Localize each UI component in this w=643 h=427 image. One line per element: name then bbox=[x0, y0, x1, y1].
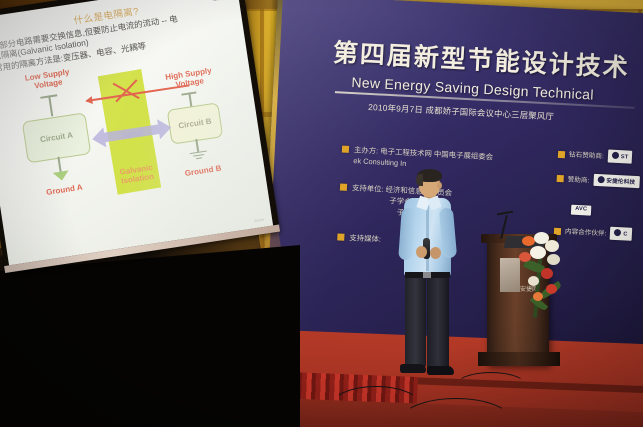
bullet-square-icon bbox=[337, 233, 344, 240]
speaker-hand-left bbox=[416, 246, 427, 258]
sponsor-role: 主办方: bbox=[354, 145, 379, 155]
presentation-slide: ST 意法半导 什么是电隔离? 两部分电路需要交换信息,但要防止电流的流动 --… bbox=[0, 0, 273, 265]
ground-b-label: Ground B bbox=[172, 162, 235, 180]
sponsor-tier-row: 赞助商: 安捷伦科技 bbox=[556, 171, 643, 189]
speaker-ear bbox=[437, 182, 442, 189]
supply-stem-b bbox=[188, 92, 192, 107]
low-supply-label: Low Supply Voltage bbox=[12, 66, 84, 94]
flower-petal-white bbox=[547, 254, 560, 265]
speaker-leg-right bbox=[427, 276, 449, 369]
sponsor-logo: AVC bbox=[571, 205, 591, 216]
slide-footer: www bbox=[254, 217, 265, 223]
flower-petal-orange bbox=[533, 292, 543, 301]
sponsor-role: 支持单位: bbox=[352, 183, 384, 194]
sponsor-tier-label: 内容合作伙伴: bbox=[565, 226, 607, 238]
projection-screen-assembly: ST 意法半导 什么是电隔离? 两部分电路需要交换信息,但要防止电流的流动 --… bbox=[0, 0, 280, 273]
speaker-hair-side bbox=[416, 174, 423, 186]
isolation-diagram: Low Supply Voltage High Supply Voltage C… bbox=[0, 41, 258, 227]
left-dark-area bbox=[0, 245, 300, 427]
speaker-hand-right bbox=[430, 247, 441, 259]
photo-scene: 第四届新型节能设计技术 New Energy Saving Design Tec… bbox=[0, 0, 643, 427]
sponsor-tier-row: 内容合作伙伴: C bbox=[554, 224, 643, 242]
flower-petal-white bbox=[530, 246, 546, 259]
ground-a-label: Ground A bbox=[29, 181, 100, 200]
speaker-shoe-right bbox=[427, 366, 454, 375]
ground-triangle-a-icon bbox=[53, 170, 70, 181]
speaker-belt-buckle bbox=[423, 272, 431, 278]
ground-symbol-b-icon bbox=[189, 150, 207, 161]
logo-mark-icon bbox=[614, 229, 621, 236]
flower-petal-white bbox=[545, 240, 559, 252]
projection-screen: ST 意法半导 什么是电隔离? 两部分电路需要交换信息,但要防止电流的流动 --… bbox=[0, 0, 273, 265]
blocked-x-icon bbox=[109, 74, 143, 108]
sponsor-logo: ST bbox=[607, 149, 632, 163]
sponsor-tier-label: 钻石赞助商: bbox=[569, 149, 604, 161]
sponsor-logo: 安捷伦科技 bbox=[593, 173, 640, 188]
podium-base bbox=[478, 352, 560, 366]
bullet-square-icon bbox=[340, 184, 347, 191]
stage-cable-3 bbox=[455, 372, 527, 400]
circuit-a-box: Circuit A bbox=[22, 112, 92, 163]
flower-petal-white bbox=[528, 276, 539, 286]
flower-petal-red bbox=[546, 284, 557, 294]
ground-stem-b bbox=[195, 139, 199, 152]
logo-mark-icon bbox=[597, 176, 604, 183]
podium-nameplate bbox=[500, 258, 520, 292]
bullet-square-icon bbox=[558, 151, 565, 158]
sponsor-logo-row: AVC bbox=[571, 197, 643, 220]
bullet-square-icon bbox=[557, 175, 564, 182]
flower-petal-red bbox=[519, 252, 531, 262]
ground-stem-a bbox=[57, 156, 61, 172]
flower-petal-red bbox=[541, 268, 553, 279]
supply-stem-a bbox=[48, 95, 53, 116]
sponsor-column-right: 钻石赞助商: ST 赞助商: 安捷伦科技 AVC 内容合作伙伴: C bbox=[553, 147, 643, 254]
sponsor-logo: C bbox=[610, 227, 632, 241]
sponsor-role: 支持媒体: bbox=[349, 233, 381, 244]
event-banner: 第四届新型节能设计技术 New Energy Saving Design Tec… bbox=[260, 0, 643, 366]
sponsor-tier-label: 赞助商: bbox=[567, 173, 589, 184]
logo-mark-icon bbox=[612, 152, 619, 159]
speaker-leg-left bbox=[405, 276, 426, 367]
speaker-shoe-left bbox=[400, 364, 426, 373]
bullet-square-icon bbox=[342, 146, 349, 153]
